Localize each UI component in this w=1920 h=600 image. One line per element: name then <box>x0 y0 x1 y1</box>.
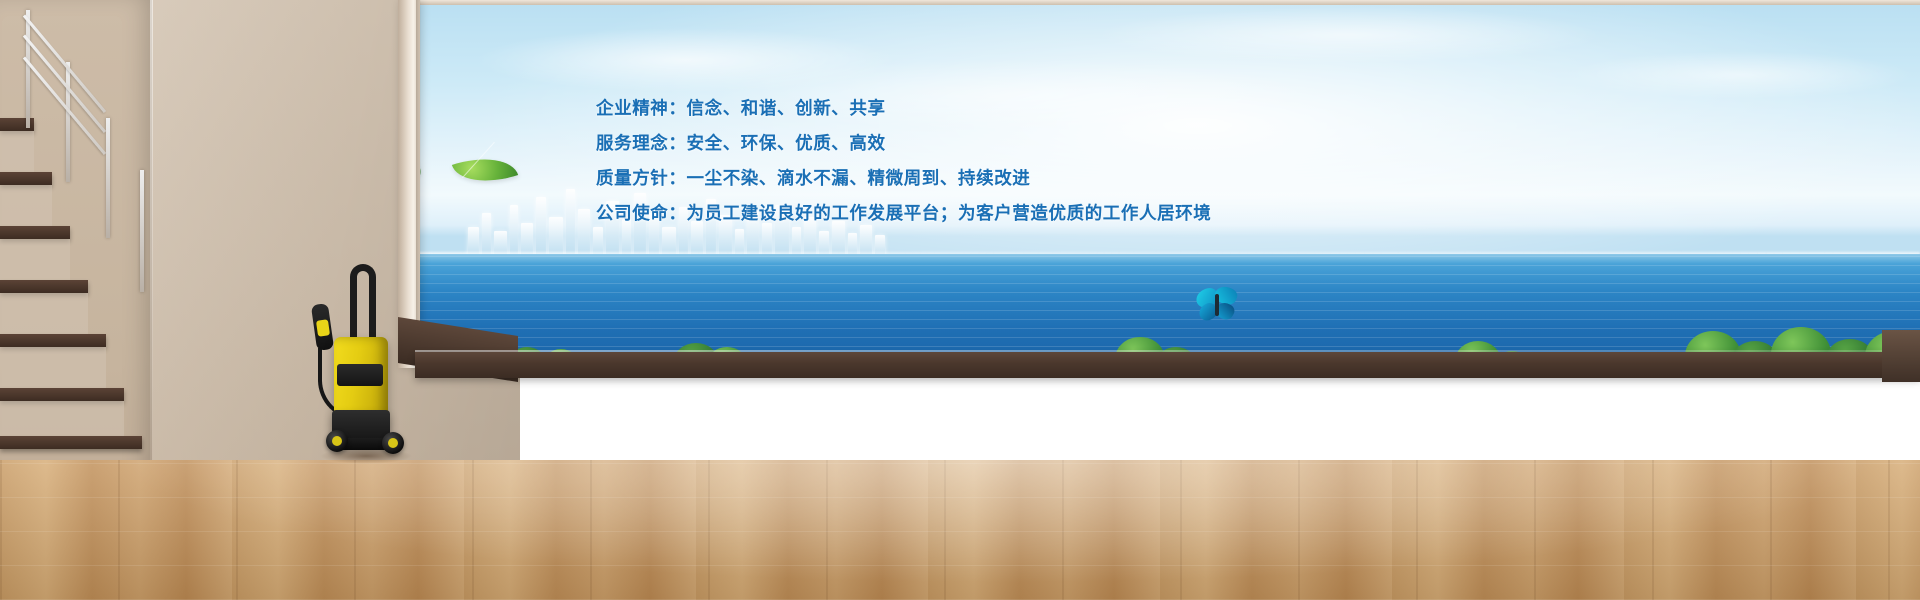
slogan-line-quality-policy: 质量方针：一尘不染、滴水不漏、精微周到、持续改进 <box>596 162 1356 197</box>
washer-trigger <box>316 319 330 337</box>
wall-right-edge <box>1882 330 1920 382</box>
wall-seam <box>150 0 153 520</box>
baseboard <box>415 352 1920 378</box>
slogan-line-corporate-spirit: 企业精神：信念、和谐、创新、共享 <box>596 92 1356 127</box>
slogan-block: 企业精神：信念、和谐、创新、共享 服务理念：安全、环保、优质、高效 质量方针：一… <box>596 92 1356 232</box>
company-culture-banner: 企业精神：信念、和谐、创新、共享 服务理念：安全、环保、优质、高效 质量方针：一… <box>0 0 1920 600</box>
mural-frame-top <box>415 0 1920 5</box>
washer-wheel <box>382 432 404 454</box>
slogan-line-company-mission: 公司使命：为员工建设良好的工作发展平台；为客户营造优质的工作人居环境 <box>596 197 1356 232</box>
washer-handle <box>350 264 376 342</box>
staircase <box>0 118 150 448</box>
slogan-line-service-philosophy: 服务理念：安全、环保、优质、高效 <box>596 127 1356 162</box>
pressure-washer <box>306 252 426 462</box>
washer-control-panel <box>337 364 383 386</box>
washer-wheel <box>326 430 348 452</box>
butterfly-icon <box>1195 285 1239 325</box>
floor-sheen <box>0 460 1920 600</box>
